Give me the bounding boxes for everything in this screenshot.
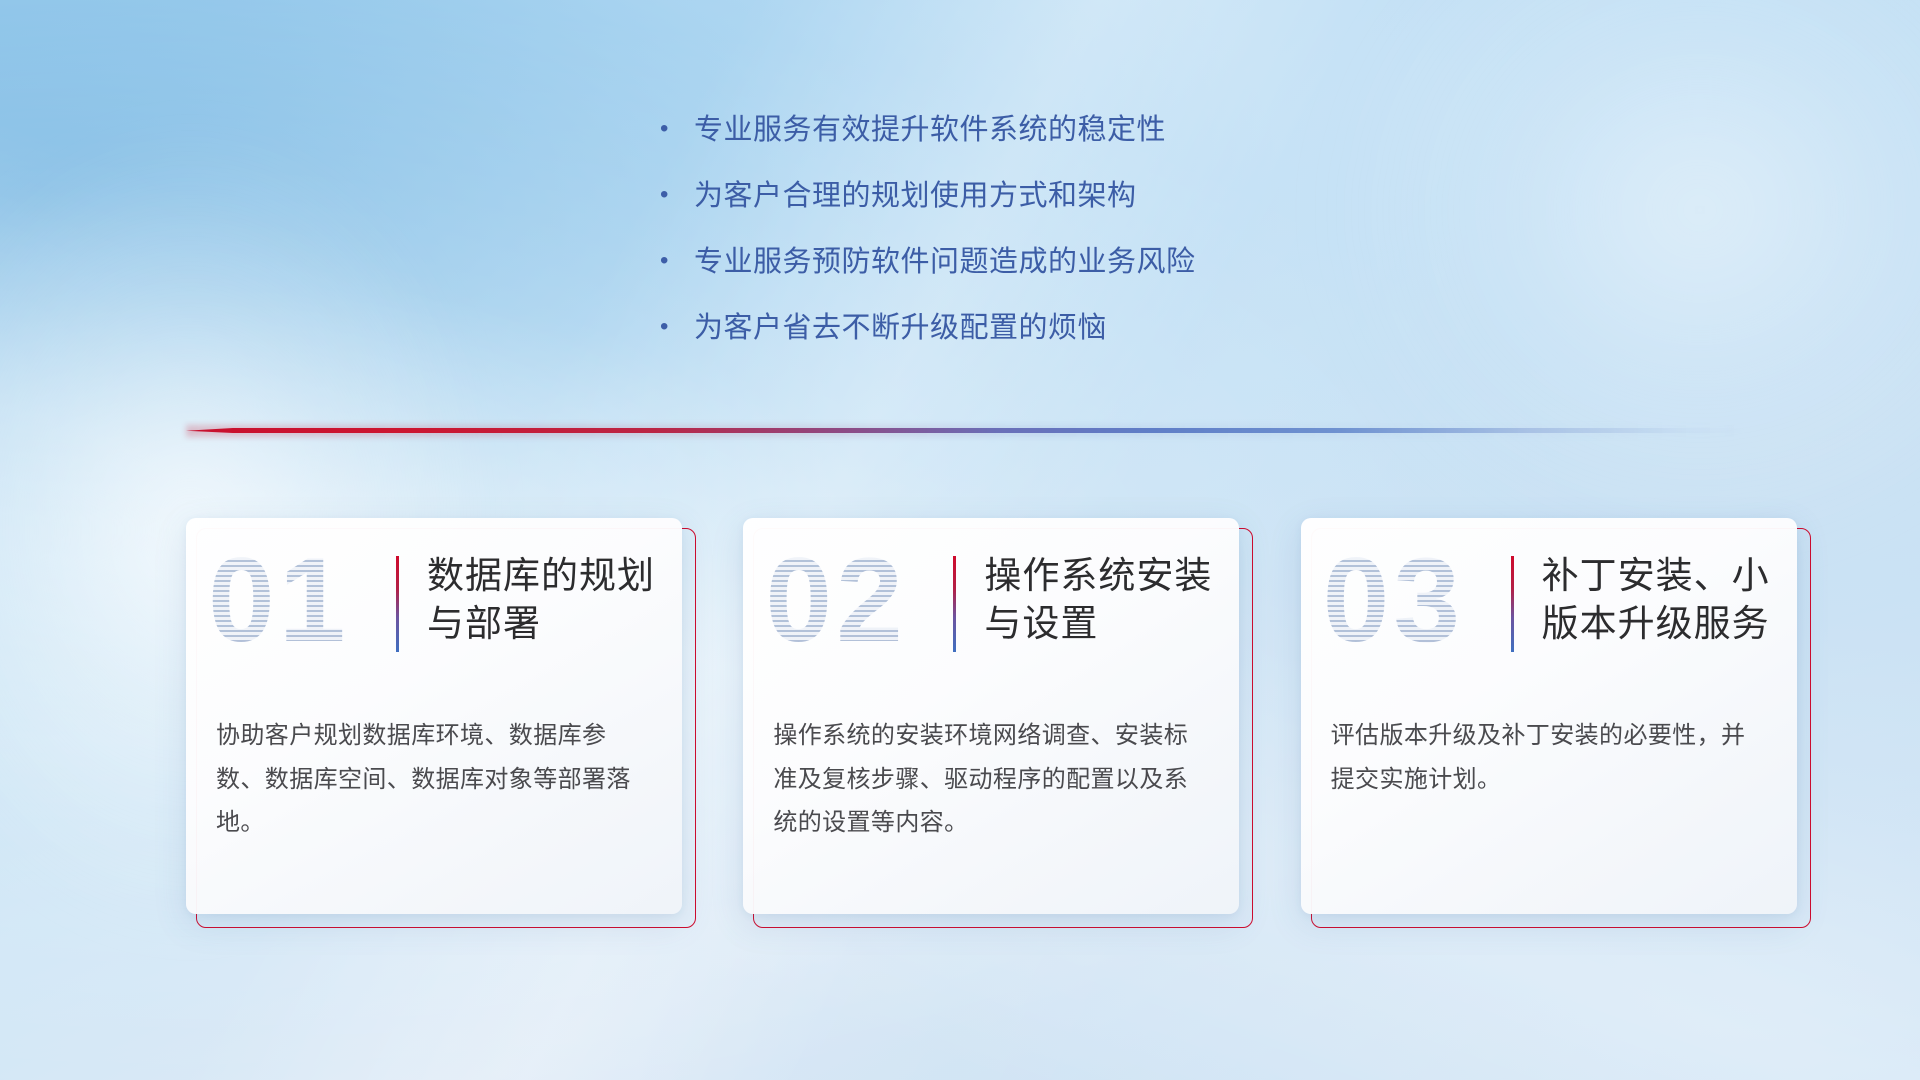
card-title-group: 补丁安装、小版本升级服务 <box>1511 552 1797 652</box>
card-body: 03 03 补丁安装、小版本升级服务 评估版本升级及补丁安装的必要性，并提交实施… <box>1301 518 1797 914</box>
bullet-text: 专业服务预防软件问题造成的业务风险 <box>694 244 1196 281</box>
card-title: 补丁安装、小版本升级服务 <box>1542 552 1797 648</box>
benefits-bullet-list: • 专业服务有效提升软件系统的稳定性 • 为客户合理的规划使用方式和架构 • 专… <box>660 112 1420 376</box>
bullet-dot-icon: • <box>660 117 694 141</box>
service-card-02[interactable]: 02 02 操作系统安装与设置 操作系统的安装环境网络调查、安装标准及复核步骤、… <box>743 518 1242 918</box>
card-title-group: 操作系统安装与设置 <box>953 552 1239 652</box>
card-title: 操作系统安装与设置 <box>984 552 1239 648</box>
card-description: 操作系统的安装环境网络调查、安装标准及复核步骤、驱动程序的配置以及系统的设置等内… <box>773 714 1205 845</box>
card-title-group: 数据库的规划与部署 <box>396 552 682 652</box>
service-card-list: 01 01 数据库的规划与部署 协助客户规划数据库环境、数据库参数、数据库空间、… <box>186 518 1800 918</box>
card-number: 02 <box>765 540 906 660</box>
card-header: 01 01 数据库的规划与部署 <box>186 518 682 714</box>
bullet-dot-icon: • <box>660 249 694 273</box>
title-accent-bar <box>1511 556 1514 652</box>
title-accent-bar <box>953 556 956 652</box>
section-divider <box>186 425 1746 437</box>
service-card-03[interactable]: 03 03 补丁安装、小版本升级服务 评估版本升级及补丁安装的必要性，并提交实施… <box>1301 518 1800 918</box>
bullet-text: 为客户省去不断升级配置的烦恼 <box>694 310 1107 347</box>
list-item: • 专业服务有效提升软件系统的稳定性 <box>660 112 1420 149</box>
card-header: 02 02 操作系统安装与设置 <box>743 518 1239 714</box>
card-number: 03 <box>1323 540 1464 660</box>
card-body: 02 02 操作系统安装与设置 操作系统的安装环境网络调查、安装标准及复核步骤、… <box>743 518 1239 914</box>
bullet-text: 为客户合理的规划使用方式和架构 <box>694 178 1137 215</box>
list-item: • 专业服务预防软件问题造成的业务风险 <box>660 244 1420 281</box>
title-accent-bar <box>396 556 399 652</box>
card-number: 01 <box>208 540 349 660</box>
bullet-dot-icon: • <box>660 315 694 339</box>
card-title: 数据库的规划与部署 <box>427 552 682 648</box>
divider-line <box>186 428 1746 433</box>
card-description: 协助客户规划数据库环境、数据库参数、数据库空间、数据库对象等部署落地。 <box>216 714 648 845</box>
bullet-dot-icon: • <box>660 183 694 207</box>
card-header: 03 03 补丁安装、小版本升级服务 <box>1301 518 1797 714</box>
service-card-01[interactable]: 01 01 数据库的规划与部署 协助客户规划数据库环境、数据库参数、数据库空间、… <box>186 518 685 918</box>
card-description: 评估版本升级及补丁安装的必要性，并提交实施计划。 <box>1331 714 1763 801</box>
card-body: 01 01 数据库的规划与部署 协助客户规划数据库环境、数据库参数、数据库空间、… <box>186 518 682 914</box>
bullet-text: 专业服务有效提升软件系统的稳定性 <box>694 112 1166 149</box>
list-item: • 为客户合理的规划使用方式和架构 <box>660 178 1420 215</box>
list-item: • 为客户省去不断升级配置的烦恼 <box>660 310 1420 347</box>
